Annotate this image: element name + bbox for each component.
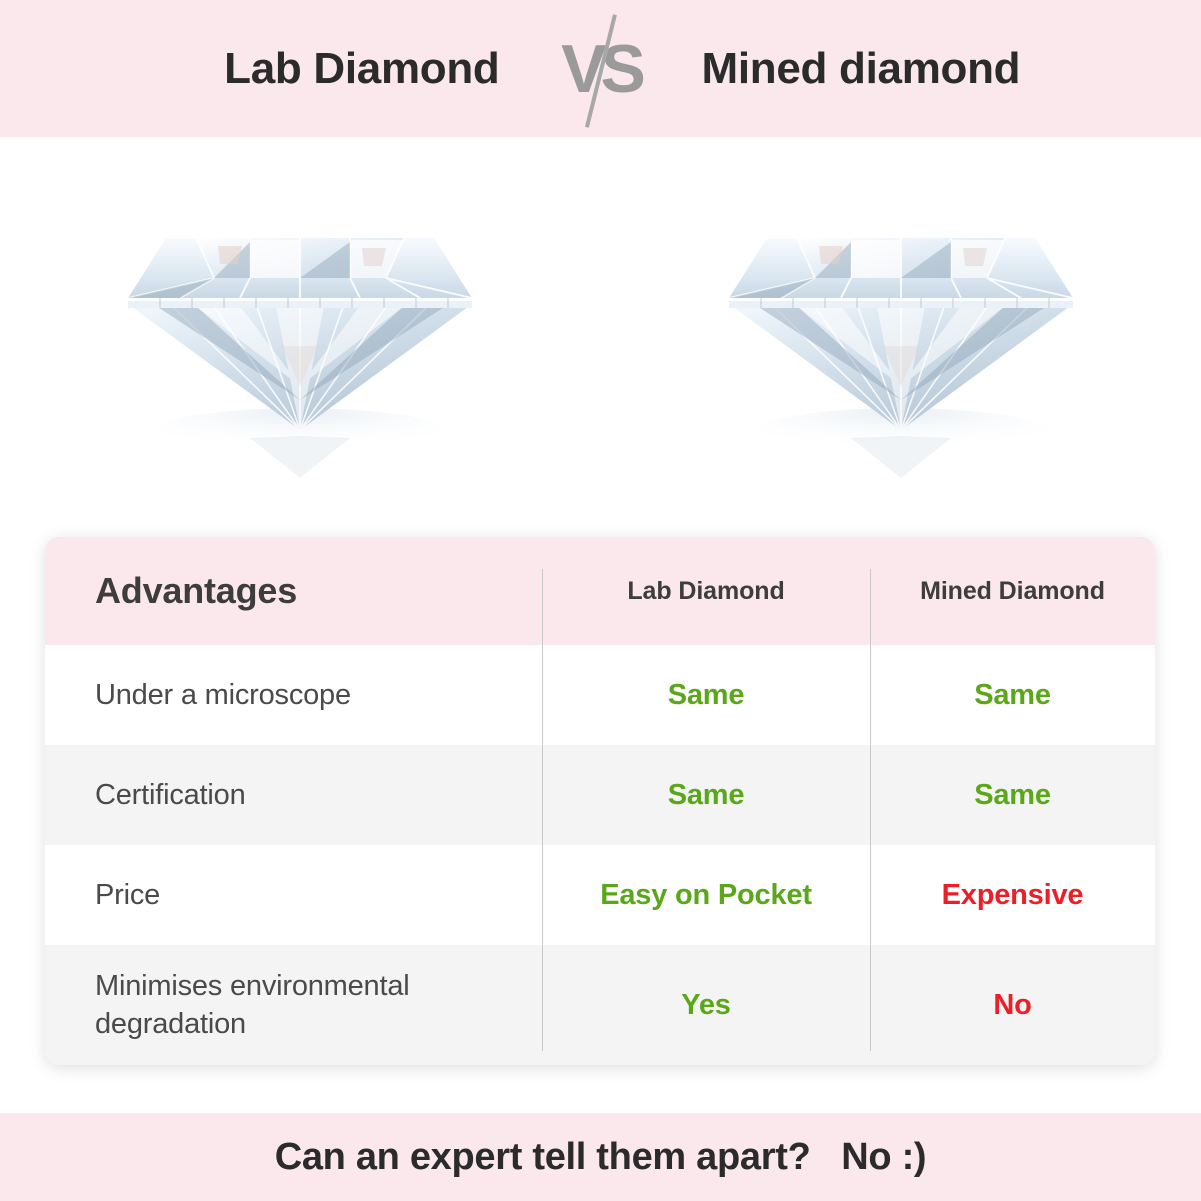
- row-feature-cell: Minimises environmental degradation: [45, 945, 542, 1065]
- right-diamond-cell: [601, 137, 1201, 535]
- left-title: Lab Diamond: [116, 44, 546, 94]
- top-banner: Lab Diamond VS Mined diamond: [0, 0, 1201, 137]
- column-divider-1: [542, 569, 543, 1051]
- row-mined-cell: Expensive: [870, 845, 1155, 945]
- versus-badge: VS: [546, 9, 656, 129]
- row-feature-cell: Price: [45, 845, 542, 945]
- header-cell-lab: Lab Diamond: [542, 537, 870, 645]
- row-mined-value: Same: [974, 779, 1051, 812]
- header-cell-advantages: Advantages: [45, 537, 542, 645]
- row-feature-cell: Under a microscope: [45, 645, 542, 745]
- row-lab-value: Same: [668, 779, 745, 812]
- table-row: Under a microscope Same Same: [45, 645, 1155, 745]
- row-lab-cell: Easy on Pocket: [542, 845, 870, 945]
- footer-question: Can an expert tell them apart? No :): [275, 1136, 927, 1179]
- table-header-row: Advantages Lab Diamond Mined Diamond: [45, 537, 1155, 645]
- column-divider-2: [870, 569, 871, 1051]
- row-lab-value: Same: [668, 679, 745, 712]
- header-label-lab: Lab Diamond: [627, 577, 784, 606]
- diamond-gallery: [0, 137, 1201, 535]
- row-feature-label: Certification: [95, 776, 246, 814]
- left-diamond-cell: [0, 137, 601, 535]
- mined-diamond-photo: [701, 186, 1101, 486]
- header-label-advantages: Advantages: [95, 570, 297, 612]
- row-mined-value: No: [993, 989, 1031, 1022]
- row-lab-value: Easy on Pocket: [600, 879, 812, 912]
- header-label-mined: Mined Diamond: [920, 577, 1105, 606]
- row-mined-value: Expensive: [942, 879, 1084, 912]
- comparison-table: Advantages Lab Diamond Mined Diamond Und…: [45, 537, 1155, 1065]
- row-mined-value: Same: [974, 679, 1051, 712]
- row-feature-cell: Certification: [45, 745, 542, 845]
- infographic-page: Lab Diamond VS Mined diamond: [0, 0, 1201, 1201]
- bottom-banner: Can an expert tell them apart? No :): [0, 1113, 1201, 1201]
- table-row: Price Easy on Pocket Expensive: [45, 845, 1155, 945]
- row-lab-value: Yes: [681, 989, 730, 1022]
- lab-diamond-photo: [100, 186, 500, 486]
- row-mined-cell: No: [870, 945, 1155, 1065]
- row-lab-cell: Same: [542, 645, 870, 745]
- row-mined-cell: Same: [870, 745, 1155, 845]
- header-cell-mined: Mined Diamond: [870, 537, 1155, 645]
- table-row: Certification Same Same: [45, 745, 1155, 845]
- row-feature-label: Price: [95, 876, 160, 914]
- right-title: Mined diamond: [656, 44, 1086, 94]
- row-mined-cell: Same: [870, 645, 1155, 745]
- row-lab-cell: Same: [542, 745, 870, 845]
- table-row: Minimises environmental degradation Yes …: [45, 945, 1155, 1065]
- row-lab-cell: Yes: [542, 945, 870, 1065]
- row-feature-label: Minimises environmental degradation: [95, 967, 542, 1044]
- row-feature-label: Under a microscope: [95, 676, 351, 714]
